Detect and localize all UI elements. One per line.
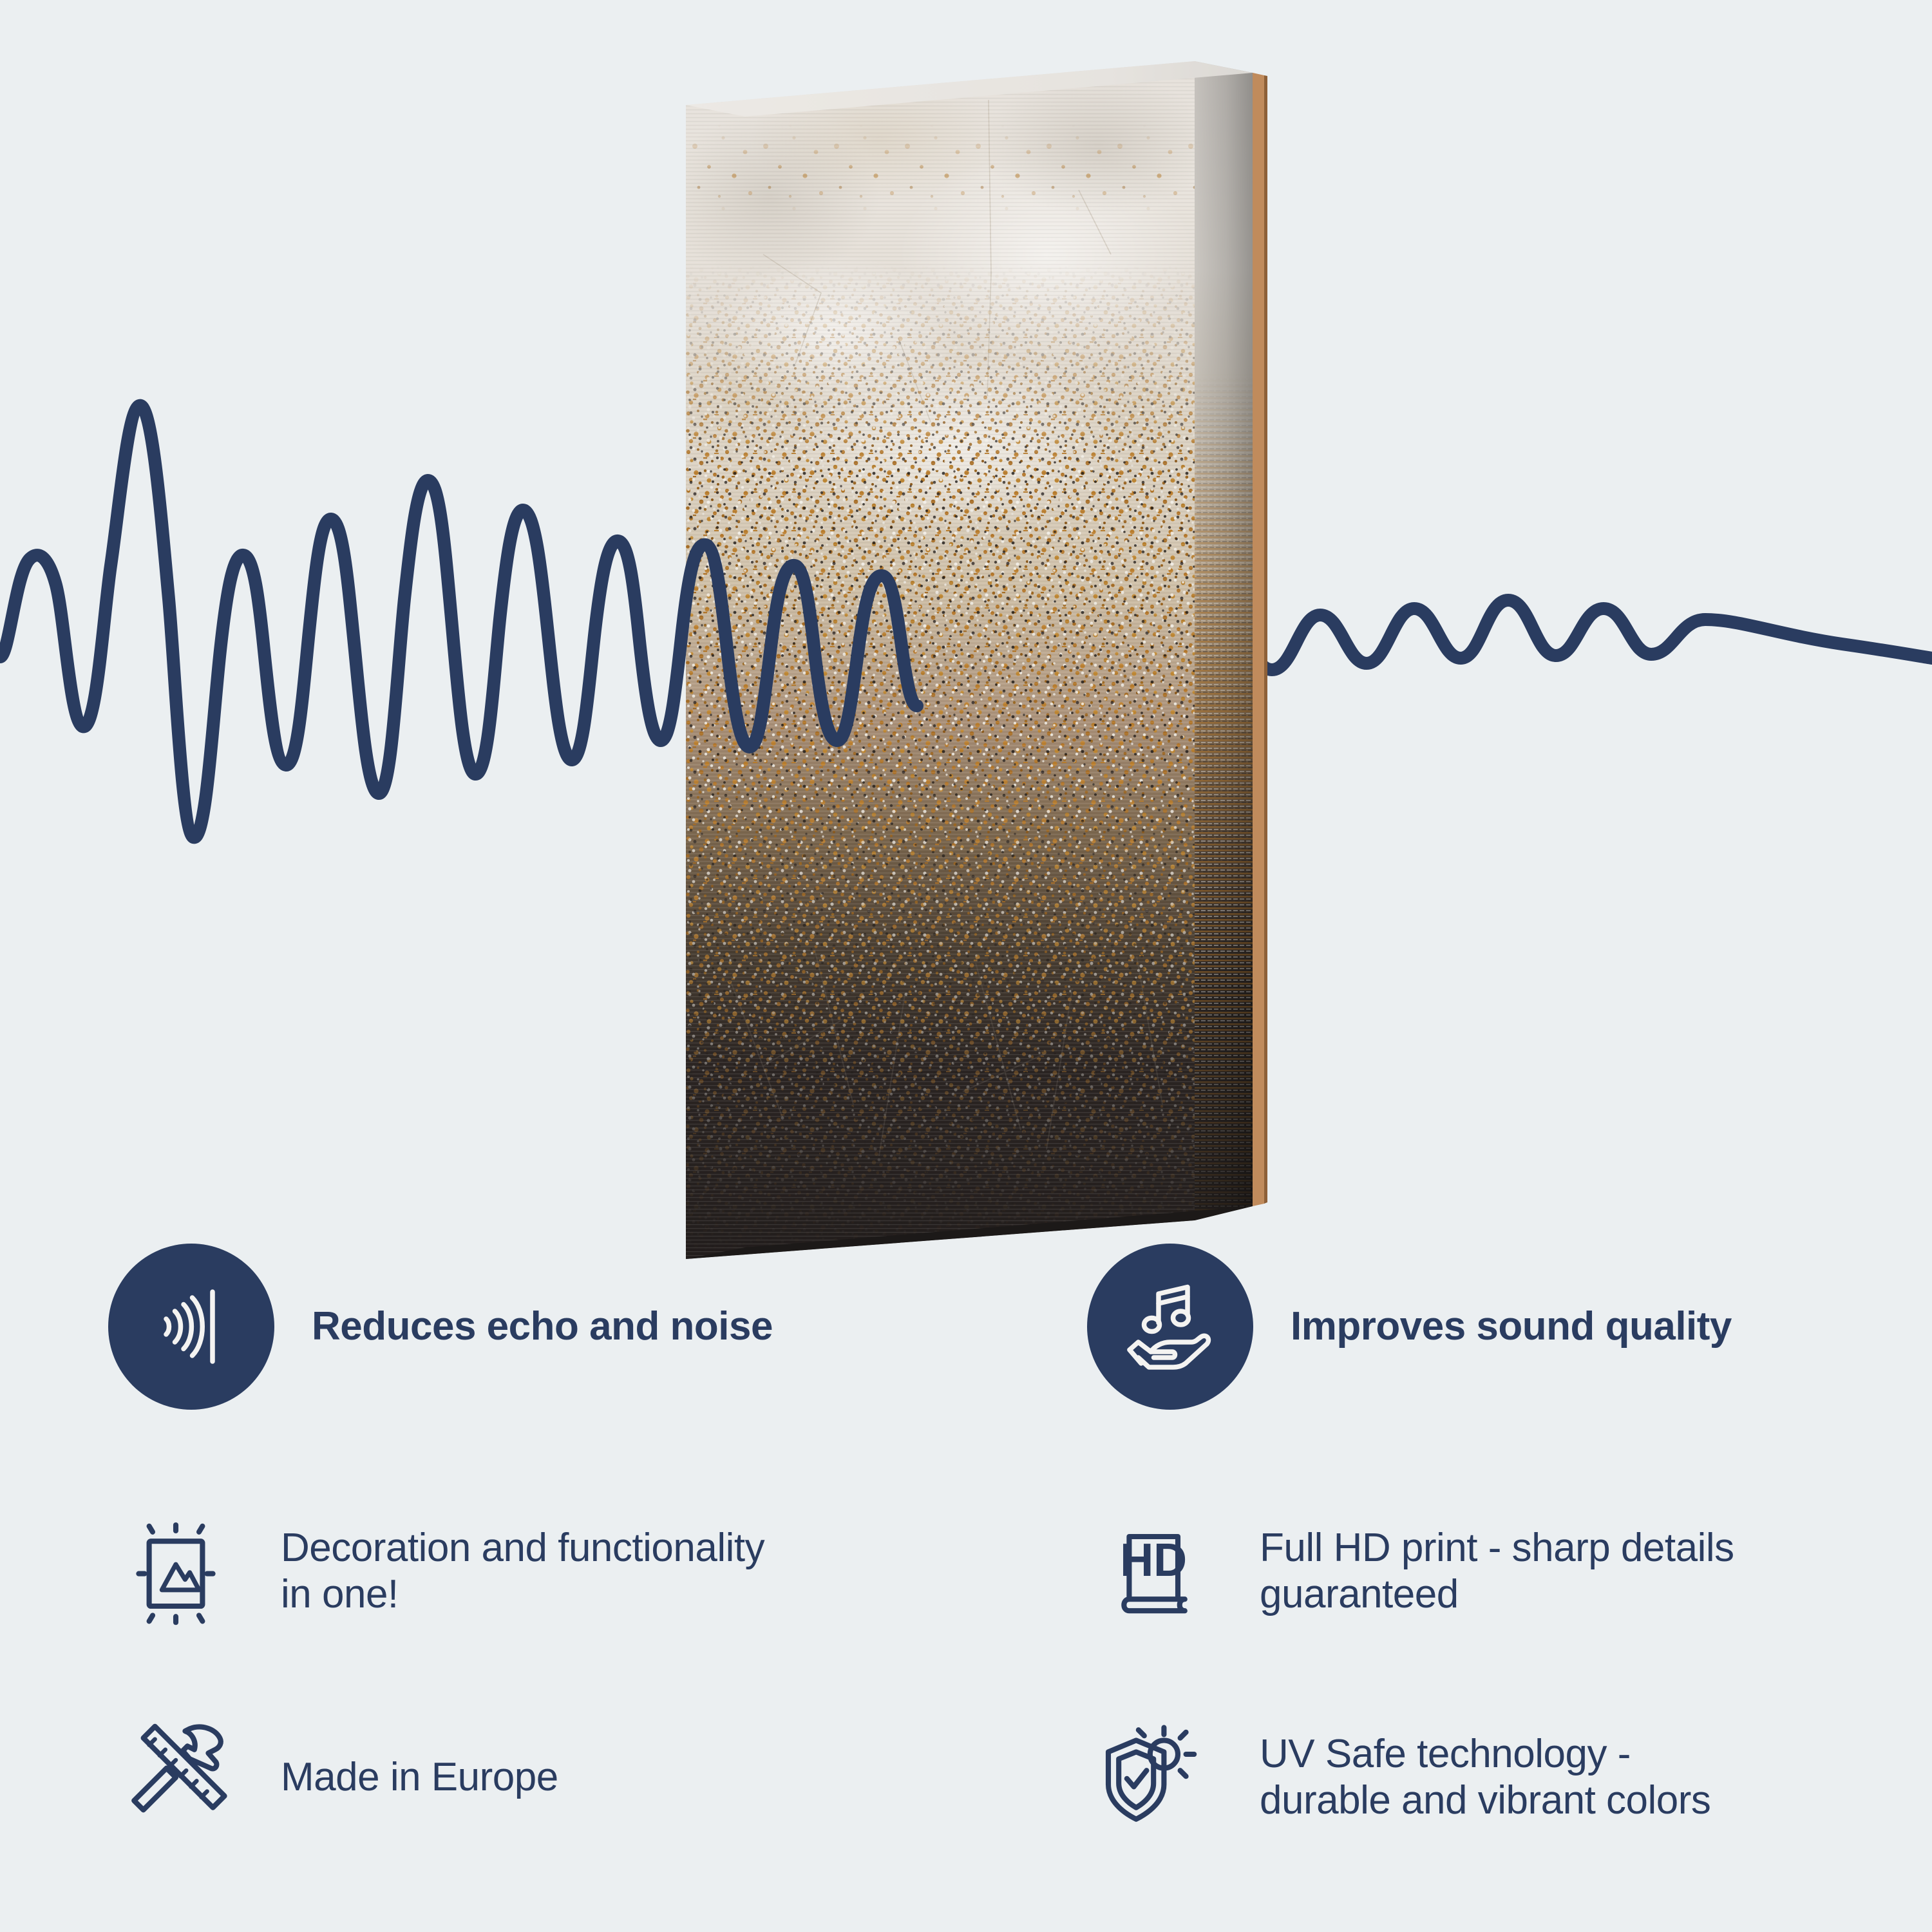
- feature-uv-safe: UV Safe technology - durable and vibrant…: [1087, 1694, 1924, 1861]
- feature-label: Decoration and functionality in one!: [281, 1525, 764, 1618]
- framed-picture-shining-icon: [108, 1507, 243, 1636]
- shield-check-sun-icon: [1087, 1713, 1222, 1842]
- feature-label: Full HD print - sharp details guaranteed: [1260, 1525, 1734, 1618]
- canvas-front-face: [647, 61, 1285, 1259]
- feature-improves-sound: Improves sound quality: [1087, 1243, 1924, 1410]
- music-note-in-hand-icon: [1087, 1244, 1253, 1410]
- feature-label: Made in Europe: [281, 1754, 558, 1801]
- infographic-stage: Reduces echo and noise Improves sound qu…: [0, 0, 1932, 1932]
- canvas-side-edge: [1195, 61, 1253, 1220]
- hd-icon-text: HD: [1120, 1535, 1187, 1586]
- stretcher-frame-shadow: [1264, 75, 1267, 1204]
- feature-list: Reduces echo and noise Improves sound qu…: [0, 1243, 1932, 1932]
- feature-reduces-echo: Reduces echo and noise: [108, 1243, 1010, 1410]
- sound-waves-absorbing-panel-icon: [108, 1244, 274, 1410]
- feature-full-hd-print: HD Full HD print - sharp details guarant…: [1087, 1488, 1924, 1655]
- feature-label: Improves sound quality: [1291, 1305, 1732, 1349]
- feature-label: Reduces echo and noise: [312, 1305, 773, 1349]
- stretcher-frame-edge: [1253, 73, 1264, 1206]
- feature-made-in-europe: Made in Europe: [108, 1694, 1010, 1861]
- ruler-and-hammer-icon: [108, 1713, 243, 1842]
- feature-label: UV Safe technology - durable and vibrant…: [1260, 1731, 1710, 1824]
- canvas-product-image: [686, 61, 1285, 1259]
- feature-decoration-functionality: Decoration and functionality in one!: [108, 1488, 1010, 1655]
- canvas-artwork: [686, 61, 1285, 1259]
- hd-print-icon: HD: [1087, 1507, 1222, 1636]
